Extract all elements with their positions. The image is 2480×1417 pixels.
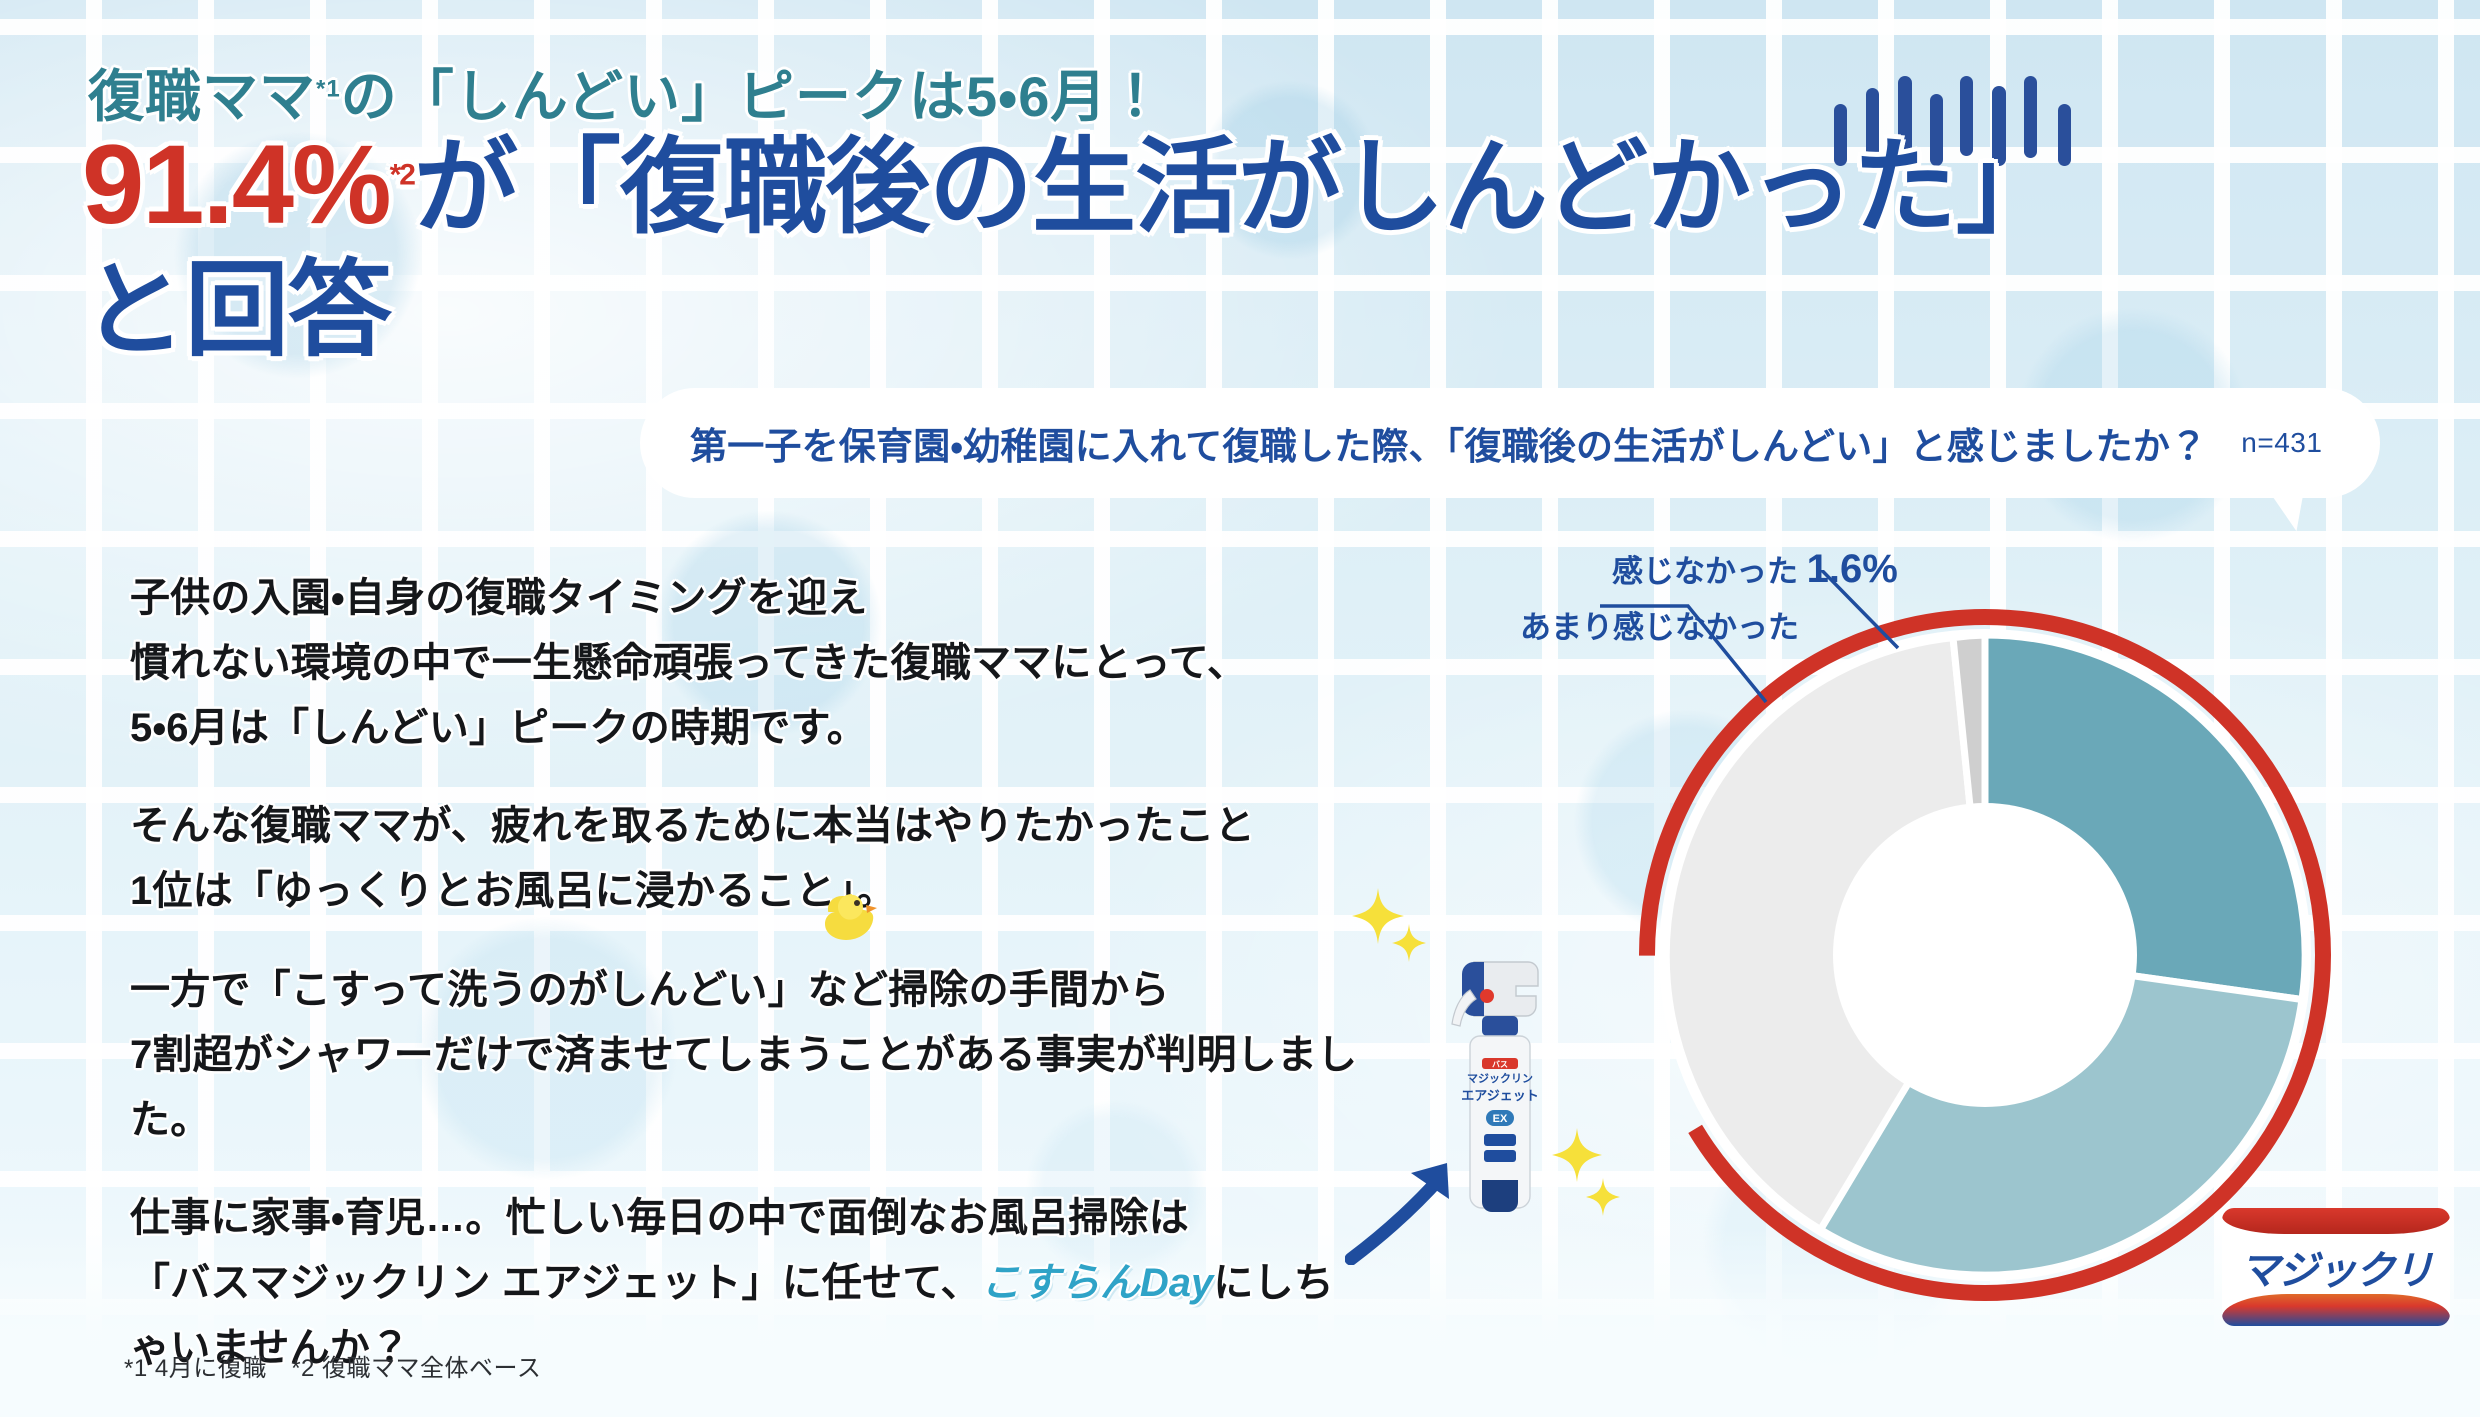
headline-answer: と回答 (82, 253, 391, 369)
sample-size: n=431 (2241, 427, 2322, 459)
question-text: 第一子を保育園・幼稚園に入れて復職した際、「復職後の生活がしんどい」と感じました… (690, 416, 2207, 470)
paragraph-1-line-3: 5・6月は「しんどい」ピークの時期です。 (130, 696, 1360, 761)
callout-nashi-text: 感じなかった (1612, 554, 1798, 589)
paragraph-2-line-2: 1位は「ゆっくりとお風呂に浸かること」。 (130, 859, 1360, 924)
footnote: *1 4月に復職 *2 復職ママ全体ベース (124, 1348, 541, 1383)
kicker-rest: の「しんどい」ピークは5・6月！ (341, 65, 1165, 128)
headline: 91.4%*2が「復職後の生活がしんどかった」 と回答 (82, 128, 2412, 364)
closing-line-2-a: 「バスマジックリン エアジェット」に任せて、 (130, 1261, 981, 1305)
sparkle-icon (1552, 1128, 1602, 1182)
svg-text:EX: EX (1493, 1113, 1508, 1125)
callout-nashi-value: 1.6% (1807, 547, 1898, 591)
headline-footnote-marker: *2 (390, 159, 414, 192)
headline-line-2: と回答 (82, 258, 2412, 364)
callout-amari-text: あまり感じなかった (1520, 610, 1799, 645)
infographic-root: 復職ママ*1の「しんどい」ピークは5・6月！ 91.4%*2が「復職後の生活がし… (0, 0, 2480, 1417)
rubber-duck-icon (818, 886, 882, 944)
kicker-line: 復職ママ*1の「しんどい」ピークは5・6月！ (88, 52, 1164, 133)
svg-text:バス: バス (1492, 1060, 1508, 1069)
paragraph-3-line-2: 7割超がシャワーだけで済ませてしまうことがある事実が判明しました。 (130, 1023, 1360, 1153)
logo-band-top (2222, 1208, 2450, 1234)
logo-band-bottom (2222, 1294, 2450, 1326)
question-bubble: 第一子を保育園・幼稚園に入れて復職した際、「復職後の生活がしんどい」と感じました… (640, 388, 2380, 498)
kicker-footnote-marker: *1 (316, 75, 341, 102)
svg-text:エアジェット: エアジェット (1461, 1088, 1538, 1103)
kosuran-day-brandword: こすらんDay (981, 1261, 1214, 1305)
closing-line-1: 仕事に家事・育児…。忙しい毎日の中で面倒なお風呂掃除は (130, 1186, 1360, 1251)
body-copy: 子供の入園・自身の復職タイミングを迎え 慣れない環境の中で一生懸命頑張ってきた復… (130, 566, 1360, 1415)
magiclean-logo: マジックリン (2222, 1208, 2450, 1326)
headline-percent: 91.4% (82, 122, 390, 247)
paragraph-3: 一方で「こすって洗うのがしんどい」など掃除の手間から 7割超がシャワーだけで済ま… (130, 958, 1360, 1152)
donut-hole (1833, 803, 2137, 1107)
paragraph-1: 子供の入園・自身の復職タイミングを迎え 慣れない環境の中で一生懸命頑張ってきた復… (130, 566, 1360, 760)
headline-statement: が「復職後の生活がしんどかった」 (414, 130, 2059, 246)
paragraph-2-line-1: そんな復職ママが、疲れを取るために本当はやりたかったこと (130, 794, 1360, 859)
callout-label-amari: あまり感じなかった (1520, 602, 1799, 647)
svg-text:マジックリン: マジックリン (1467, 1072, 1533, 1085)
callout-label-nashi: 感じなかった 1.6% (1612, 546, 1898, 592)
kicker-text: 復職ママ (88, 65, 316, 128)
product-bottle-image: バス マジックリン エアジェット EX (1430, 940, 1558, 1230)
sparkle-icon (1392, 924, 1426, 962)
paragraph-2: そんな復職ママが、疲れを取るために本当はやりたかったこと 1位は「ゆっくりとお風… (130, 794, 1360, 924)
bubble-tail (2266, 482, 2311, 534)
paragraph-1-line-1: 子供の入園・自身の復職タイミングを迎え (130, 566, 1360, 631)
paragraph-1-line-2: 慣れない環境の中で一生懸命頑張ってきた復職ママにとって、 (130, 631, 1360, 696)
paragraph-3-line-1: 一方で「こすって洗うのがしんどい」など掃除の手間から (130, 958, 1360, 1023)
headline-line-1: 91.4%*2が「復職後の生活がしんどかった」 (82, 128, 2412, 242)
